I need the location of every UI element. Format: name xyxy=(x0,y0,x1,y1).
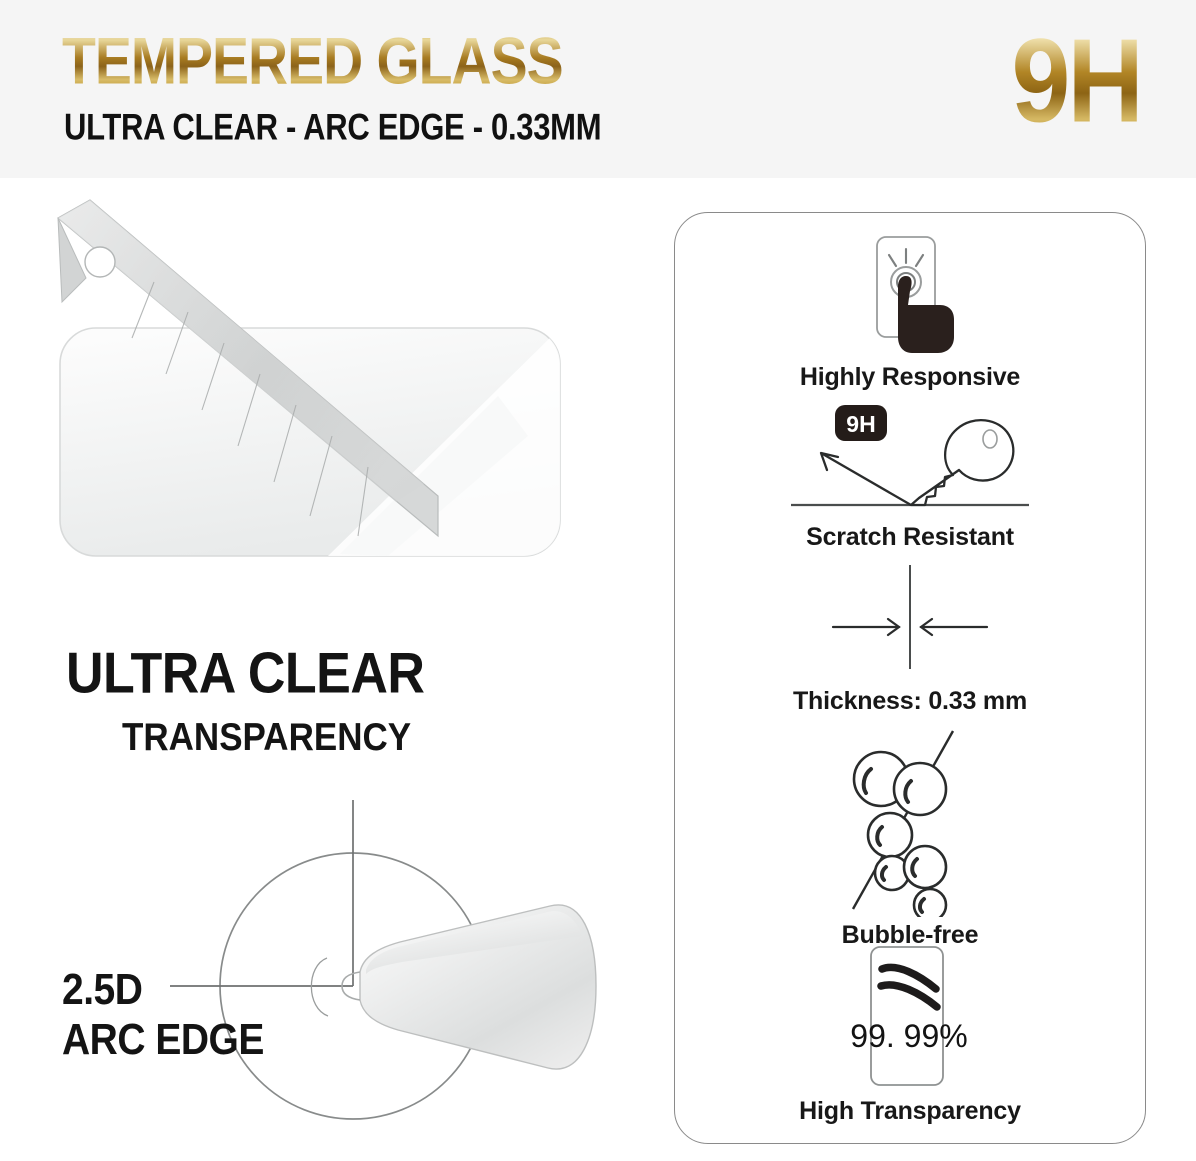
phone-touch-icon xyxy=(850,231,970,359)
transparency-subheading: TRANSPARENCY xyxy=(122,716,411,760)
bubbles-crossed-icon xyxy=(825,725,995,917)
features-panel: Highly Responsive 9H Scratch Resistant xyxy=(674,212,1146,1144)
page-title: TEMPERED GLASS xyxy=(62,28,563,94)
arc-edge-inner-arc xyxy=(311,958,328,1016)
transparency-phone-icon: 99. 99% xyxy=(835,943,985,1093)
key-shape xyxy=(911,420,1013,505)
feature-label-thickness: Thickness: 0.33 mm xyxy=(675,687,1145,716)
bubble-group xyxy=(854,752,946,917)
feature-scratch-resistant: 9H Scratch Resistant xyxy=(675,401,1145,552)
left-showcase-panel: ULTRA CLEAR TRANSPARENCY xyxy=(0,186,660,1161)
thickness-arrow-left xyxy=(833,619,899,635)
thickness-arrow-right xyxy=(921,619,987,635)
feature-label-highly-responsive: Highly Responsive xyxy=(675,363,1145,392)
blade-glass-svg xyxy=(28,196,628,616)
hardness-badge-9h: 9H xyxy=(1011,22,1141,141)
header-content: TEMPERED GLASS ULTRA CLEAR - ARC EDGE - … xyxy=(0,0,1196,178)
feature-bubble-free: Bubble-free xyxy=(675,725,1145,950)
feature-label-high-transparency: High Transparency xyxy=(675,1097,1145,1126)
deflect-arrow xyxy=(821,453,911,505)
feature-highly-responsive: Highly Responsive xyxy=(675,231,1145,392)
utility-blade-on-glass-icon xyxy=(28,196,628,616)
arc-edge-label-text: ARC EDGE xyxy=(62,1016,264,1065)
header-title-block: TEMPERED GLASS ULTRA CLEAR - ARC EDGE - … xyxy=(62,28,568,84)
page-subtitle: ULTRA CLEAR - ARC EDGE - 0.33MM xyxy=(64,106,601,149)
header-banner: TEMPERED GLASS ULTRA CLEAR - ARC EDGE - … xyxy=(0,0,1196,180)
feature-high-transparency: 99. 99% High Transparency xyxy=(675,943,1145,1126)
thickness-arrows-icon xyxy=(795,565,1025,683)
feature-label-scratch-resistant: Scratch Resistant xyxy=(675,523,1145,552)
ultra-clear-heading: ULTRA CLEAR xyxy=(66,641,424,707)
arc-edge-label-25d: 2.5D xyxy=(62,966,142,1015)
key-scratch-9h-icon: 9H xyxy=(785,401,1035,519)
transparency-value: 99. 99% xyxy=(850,1018,967,1054)
blade-hole xyxy=(85,247,115,277)
badge-9h-text: 9H xyxy=(846,411,875,437)
feature-thickness: Thickness: 0.33 mm xyxy=(675,565,1145,716)
